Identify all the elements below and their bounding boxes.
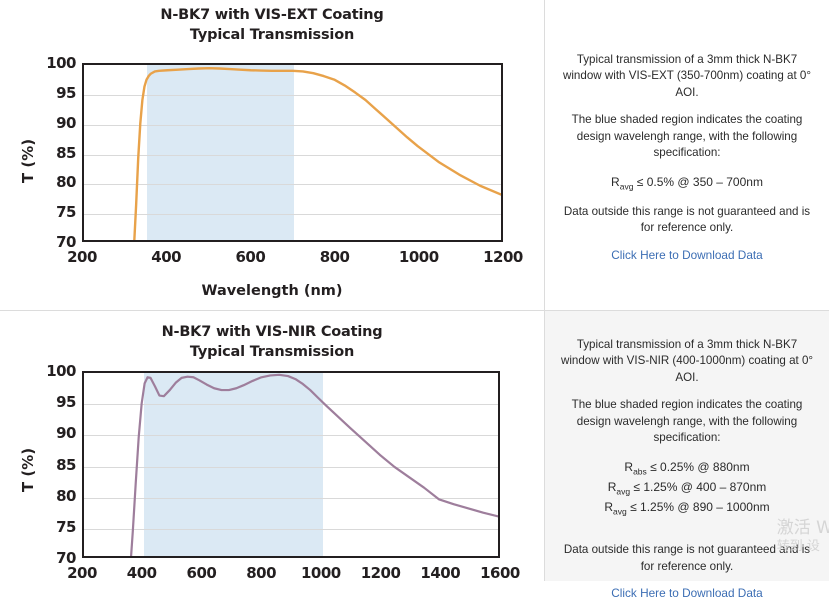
description-paragraph-1: Typical transmission of a 3mm thick N-BK… [559, 52, 815, 101]
description-panel-vis-ext: Typical transmission of a 3mm thick N-BK… [545, 0, 829, 310]
x-tick-label: 1600 [480, 564, 520, 582]
y-axis-label-vis-nir: T (%) [19, 440, 37, 500]
y-tick-label: 90 [38, 114, 76, 132]
y-tick-label: 85 [38, 144, 76, 162]
y-axis-label-vis-ext: T (%) [19, 131, 37, 191]
y-tick-label: 85 [38, 456, 76, 474]
chart-title-line1: N-BK7 with VIS-EXT Coating [160, 7, 383, 23]
description-paragraph-2: The blue shaded region indicates the coa… [559, 397, 815, 446]
x-tick-label: 200 [67, 564, 97, 582]
specification-list-vis-nir: Rabs ≤ 0.25% @ 880nmRavg ≤ 1.25% @ 400 –… [559, 458, 815, 518]
x-tick-label: 1000 [399, 248, 439, 266]
plot-area-vis-ext [82, 63, 503, 242]
spec-symbol: R [624, 460, 633, 474]
y-tick-label: 100 [38, 362, 76, 380]
spec-text: ≤ 0.5% @ 350 – 700nm [633, 175, 763, 189]
x-tick-label: 400 [127, 564, 157, 582]
spec-symbol: R [611, 175, 620, 189]
y-tick-label: 95 [38, 84, 76, 102]
specification-list-vis-ext: Ravg ≤ 0.5% @ 350 – 700nm [559, 173, 815, 193]
description-panel-vis-nir: Typical transmission of a 3mm thick N-BK… [545, 311, 829, 581]
y-tick-label: 90 [38, 424, 76, 442]
x-tick-label: 800 [320, 248, 350, 266]
y-tick-label: 95 [38, 393, 76, 411]
specification-line: Ravg ≤ 0.5% @ 350 – 700nm [559, 173, 815, 193]
chart-cell-vis-nir: N-BK7 with VIS-NIR Coating Typical Trans… [0, 311, 545, 581]
x-axis-label-vis-ext: Wavelength (nm) [0, 283, 544, 299]
specification-line: Ravg ≤ 1.25% @ 890 – 1000nm [559, 498, 815, 518]
spec-subscript: avg [620, 181, 634, 191]
spec-subscript: avg [613, 506, 627, 516]
page-root: N-BK7 with VIS-EXT Coating Typical Trans… [0, 0, 829, 581]
description-paragraph-2: The blue shaded region indicates the coa… [559, 112, 815, 161]
y-tick-label: 75 [38, 203, 76, 221]
panel-row-vis-ext: N-BK7 with VIS-EXT Coating Typical Trans… [0, 0, 829, 310]
chart-title-vis-nir: N-BK7 with VIS-NIR Coating Typical Trans… [0, 323, 544, 362]
x-tick-label: 800 [246, 564, 276, 582]
y-tick-label: 75 [38, 518, 76, 536]
y-tick-label: 80 [38, 487, 76, 505]
spec-text: ≤ 0.25% @ 880nm [647, 460, 750, 474]
description-paragraph-3: Data outside this range is not guarantee… [559, 204, 815, 237]
spec-text: ≤ 1.25% @ 400 – 870nm [630, 480, 766, 494]
x-tick-label: 600 [187, 564, 217, 582]
x-tick-label: 1000 [301, 564, 341, 582]
y-tick-label: 100 [38, 54, 76, 72]
chart-title-line2: Typical Transmission [0, 26, 544, 46]
spec-subscript: avg [616, 486, 630, 496]
description-paragraph-1: Typical transmission of a 3mm thick N-BK… [559, 337, 815, 386]
chart-title-vis-ext: N-BK7 with VIS-EXT Coating Typical Trans… [0, 6, 544, 45]
chart-title-line1: N-BK7 with VIS-NIR Coating [162, 324, 383, 340]
transmission-curve-vis-ext [84, 65, 501, 240]
x-tick-label: 200 [67, 248, 97, 266]
chart-cell-vis-ext: N-BK7 with VIS-EXT Coating Typical Trans… [0, 0, 545, 310]
x-tick-label: 400 [151, 248, 181, 266]
transmission-curve-vis-nir [84, 373, 498, 556]
x-tick-label: 600 [235, 248, 265, 266]
x-tick-label: 1200 [361, 564, 401, 582]
spec-subscript: abs [633, 466, 647, 476]
y-tick-label: 80 [38, 173, 76, 191]
panel-row-vis-nir: N-BK7 with VIS-NIR Coating Typical Trans… [0, 310, 829, 581]
chart-title-line2: Typical Transmission [0, 343, 544, 363]
specification-line: Ravg ≤ 1.25% @ 400 – 870nm [559, 478, 815, 498]
spec-symbol: R [604, 500, 613, 514]
download-data-link-vis-ext[interactable]: Click Here to Download Data [559, 248, 815, 262]
x-tick-label: 1200 [483, 248, 523, 266]
description-paragraph-3: Data outside this range is not guarantee… [559, 542, 815, 575]
plot-area-vis-nir [82, 371, 500, 558]
x-tick-label: 1400 [420, 564, 460, 582]
specification-line: Rabs ≤ 0.25% @ 880nm [559, 458, 815, 478]
download-data-link-vis-nir[interactable]: Click Here to Download Data [559, 586, 815, 600]
spec-text: ≤ 1.25% @ 890 – 1000nm [627, 500, 770, 514]
